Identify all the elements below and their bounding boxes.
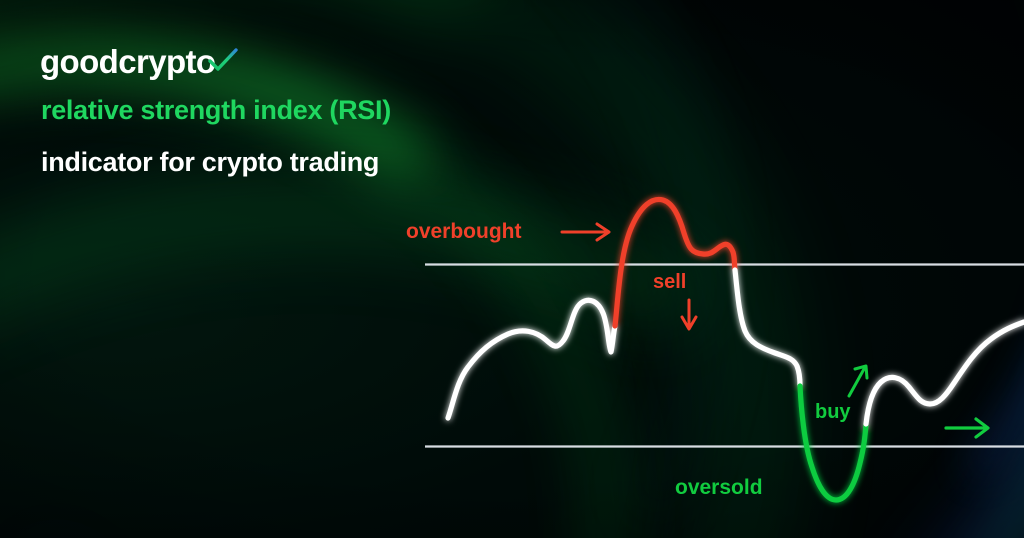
rsi-segment-overbought <box>615 199 735 326</box>
annotation-oversold: oversold <box>675 477 763 498</box>
level-lines <box>425 265 1024 447</box>
rsi-chart <box>0 0 1024 538</box>
rsi-line <box>448 199 1024 500</box>
annotation-overbought: overbought <box>406 221 522 242</box>
annotation-sell: sell <box>653 272 686 292</box>
arrow-up-right-icon-buy <box>849 366 867 396</box>
arrow-right-icon-overbought <box>562 224 609 240</box>
annotation-buy: buy <box>815 402 851 422</box>
arrow-down-icon-sell <box>682 300 696 329</box>
rsi-segment-neutral-start <box>448 300 615 418</box>
arrow-right-icon-trend <box>946 419 988 437</box>
banner-canvas: goodcrypto relative strength index (RSI)… <box>0 0 1024 538</box>
rsi-segment-neutral-middle <box>735 270 800 386</box>
rsi-segment-neutral-end <box>866 322 1024 424</box>
